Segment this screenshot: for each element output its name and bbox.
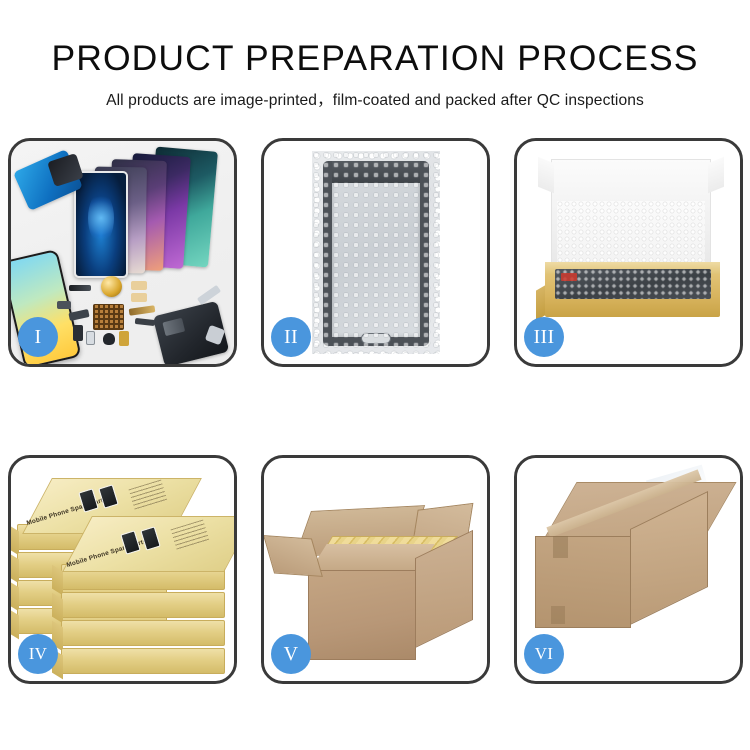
silver-bracket-part — [86, 331, 95, 345]
flex-cable-part — [69, 285, 91, 291]
box-layer-front-4 — [61, 648, 225, 674]
connector-grid-component — [93, 304, 124, 330]
step-badge-3: III — [524, 317, 564, 357]
product-preparation-process-page: PRODUCT PREPARATION PROCESS All products… — [0, 0, 750, 750]
header: PRODUCT PREPARATION PROCESS All products… — [0, 0, 750, 110]
step-badge-1: I — [18, 317, 58, 357]
carton-front-face — [535, 536, 631, 628]
carton-seam-lower — [551, 606, 565, 624]
process-step-panel-3: III — [514, 138, 743, 367]
box-side-face — [11, 581, 19, 612]
box-side-face — [11, 609, 19, 640]
step-badge-6: VI — [524, 634, 564, 674]
blue-adhesive-film — [13, 149, 83, 211]
step-badge-4: IV — [18, 634, 58, 674]
process-step-panel-4: Mobile Phone Spare Parts Mobile Phone Sp… — [8, 455, 237, 684]
phone-display-front-blue — [74, 171, 128, 278]
gold-flex-strip-part — [129, 305, 156, 316]
dark-flex-strip-part — [135, 318, 156, 326]
process-step-grid: I II III — [8, 138, 742, 684]
carton-seam-upper — [553, 536, 568, 558]
camera-lens-part — [103, 333, 115, 345]
box-side-face — [11, 525, 19, 556]
gold-contact-part-2 — [131, 293, 147, 302]
process-step-panel-1: I — [8, 138, 237, 367]
carton-front-face — [308, 570, 416, 660]
process-step-panel-2: II — [261, 138, 490, 367]
button-part — [73, 325, 83, 341]
gold-contact-part-1 — [131, 281, 147, 290]
box-layer-front-3 — [61, 620, 225, 646]
screen-top-bezel — [332, 161, 420, 183]
process-step-panel-6: VI — [514, 455, 743, 684]
box-layer-front-2 — [61, 592, 225, 618]
gold-battery-connector-part — [119, 331, 129, 346]
micro-component-part — [57, 301, 71, 309]
speaker-component-icon — [101, 276, 122, 297]
step-badge-2: II — [271, 317, 311, 357]
small-flex-part — [68, 309, 89, 321]
wrapped-screen-inside-box — [555, 269, 711, 299]
page-subtitle: All products are image-printed，film-coat… — [0, 88, 750, 110]
process-step-panel-5: V — [261, 455, 490, 684]
box-side-face — [11, 553, 19, 584]
phone-screen-in-wrap — [323, 161, 429, 346]
bubble-wrap-sheet — [312, 151, 440, 354]
page-title: PRODUCT PREPARATION PROCESS — [0, 38, 750, 79]
screen-home-button — [361, 333, 391, 344]
step-badge-5: V — [271, 634, 311, 674]
